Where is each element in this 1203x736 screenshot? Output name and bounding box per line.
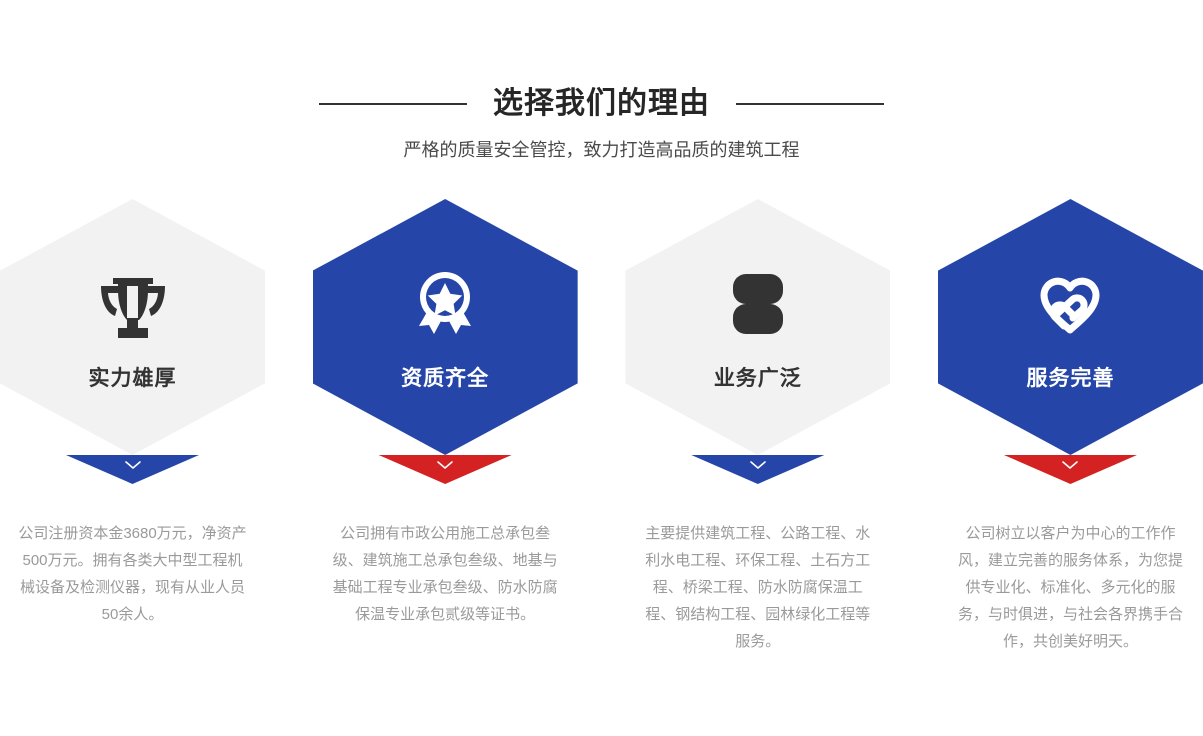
- card-description: 公司树立以客户为中心的工作作风，建立完善的服务体系，为您提供专业化、标准化、多元…: [938, 520, 1203, 655]
- card-pointer[interactable]: [379, 455, 512, 484]
- chevron-down-icon: [436, 460, 454, 471]
- clover-four-petal-icon: [715, 261, 801, 347]
- chevron-down-icon: [124, 460, 142, 471]
- title-rule-right: [736, 103, 884, 105]
- card-title: 实力雄厚: [89, 365, 177, 393]
- feature-card-qualifications[interactable]: 资质齐全 公司拥有市政公用施工总承包叁级、建筑施工总承包叁级、地基与基础工程专业…: [313, 199, 578, 699]
- chevron-down-icon: [749, 460, 767, 471]
- chevron-down-icon: [1061, 460, 1079, 471]
- card-title: 服务完善: [1026, 365, 1114, 393]
- hexagon-badge[interactable]: 资质齐全: [313, 199, 578, 484]
- feature-card-strength[interactable]: 实力雄厚 公司注册资本金3680万元，净资产500万元。拥有各类大中型工程机械设…: [0, 199, 265, 699]
- card-pointer[interactable]: [691, 455, 824, 484]
- award-medal-icon: [402, 261, 488, 347]
- title-rule-left: [319, 103, 467, 105]
- card-title: 业务广泛: [714, 365, 802, 393]
- page-subtitle: 严格的质量安全管控，致力打造高品质的建筑工程: [0, 136, 1203, 164]
- card-description: 公司拥有市政公用施工总承包叁级、建筑施工总承包叁级、地基与基础工程专业承包叁级、…: [313, 520, 578, 628]
- card-description: 公司注册资本金3680万元，净资产500万元。拥有各类大中型工程机械设备及检测仪…: [0, 520, 265, 628]
- hexagon-badge[interactable]: 业务广泛: [625, 199, 890, 484]
- feature-card-service[interactable]: 服务完善 公司树立以客户为中心的工作作风，建立完善的服务体系，为您提供专业化、标…: [938, 199, 1203, 699]
- card-description: 主要提供建筑工程、公路工程、水利水电工程、环保工程、土石方工程、桥梁工程、防水防…: [625, 520, 890, 655]
- title-row: 选择我们的理由: [0, 84, 1203, 124]
- feature-card-business-scope[interactable]: 业务广泛 主要提供建筑工程、公路工程、水利水电工程、环保工程、土石方工程、桥梁工…: [625, 199, 890, 699]
- card-pointer[interactable]: [1004, 455, 1137, 484]
- hexagon-badge[interactable]: 服务完善: [938, 199, 1203, 484]
- page-title: 选择我们的理由: [493, 84, 710, 124]
- card-title: 资质齐全: [401, 365, 489, 393]
- card-pointer[interactable]: [66, 455, 199, 484]
- linked-hearts-icon: [1027, 261, 1113, 347]
- trophy-icon: [90, 261, 176, 347]
- feature-card-list: 实力雄厚 公司注册资本金3680万元，净资产500万元。拥有各类大中型工程机械设…: [0, 199, 1203, 699]
- hexagon-badge[interactable]: 实力雄厚: [0, 199, 265, 484]
